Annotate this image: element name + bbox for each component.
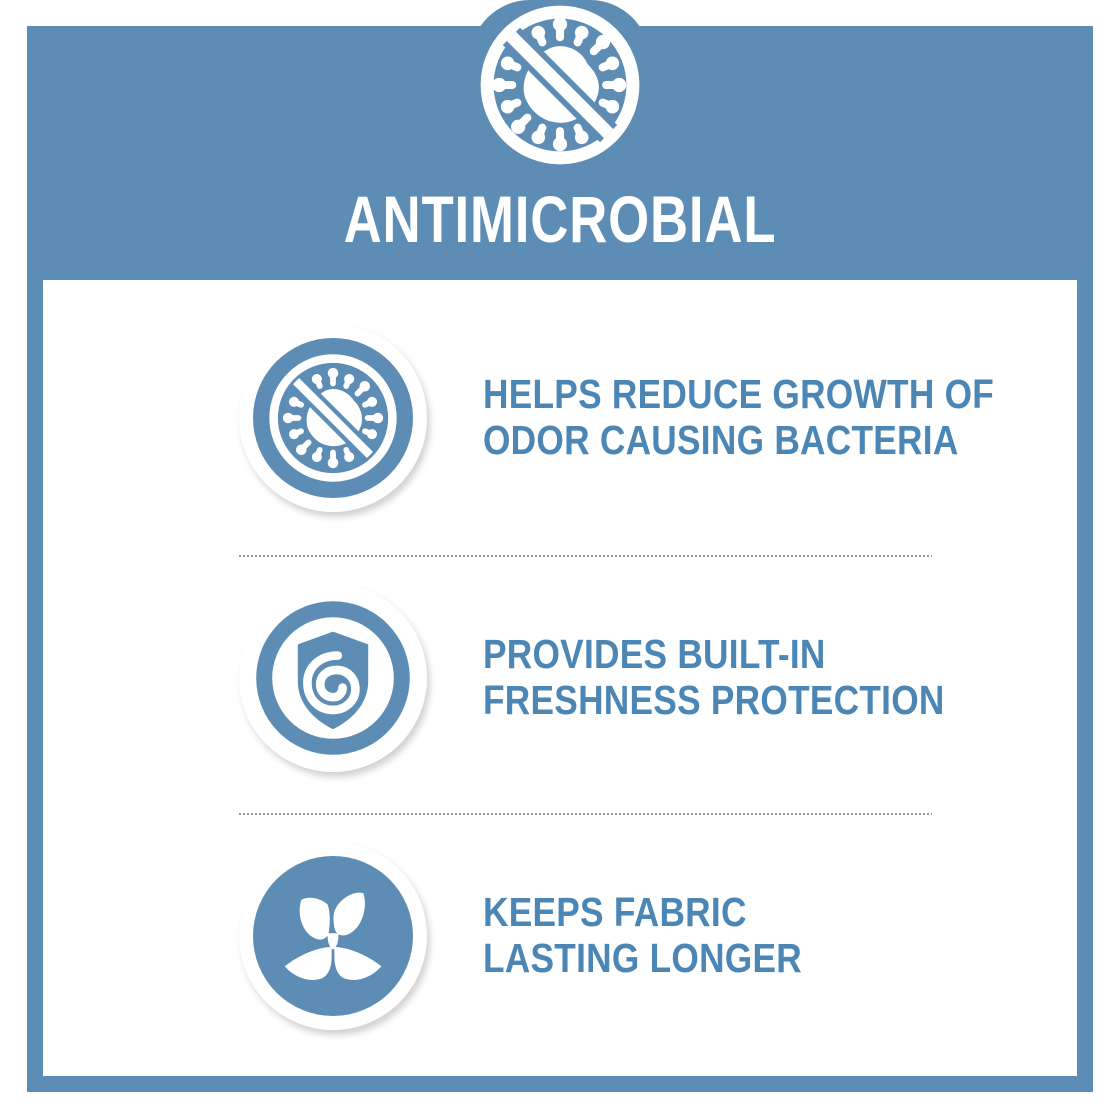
infographic-canvas: ANTIMICROBIAL [0, 0, 1120, 1120]
blue-panel: ANTIMICROBIAL [27, 26, 1093, 1092]
page-title: ANTIMICROBIAL [134, 186, 987, 252]
header-banner: ANTIMICROBIAL [27, 26, 1093, 280]
feature-line-2: ODOR CAUSING BACTERIA [483, 418, 994, 464]
feature-line-2: LASTING LONGER [483, 936, 802, 982]
shield-freshness-icon [239, 584, 427, 772]
feature-row: HELPS REDUCE GROWTH OF ODOR CAUSING BACT… [43, 310, 1077, 526]
feature-line-2: FRESHNESS PROTECTION [483, 678, 945, 724]
feature-text: PROVIDES BUILT-IN FRESHNESS PROTECTION [483, 632, 945, 724]
row-divider [239, 813, 932, 815]
feature-row: PROVIDES BUILT-IN FRESHNESS PROTECTION [43, 570, 1077, 786]
row-divider [239, 555, 932, 557]
feature-line-1: PROVIDES BUILT-IN [483, 632, 945, 678]
no-bacteria-icon [479, 4, 641, 166]
feature-line-1: HELPS REDUCE GROWTH OF [483, 372, 994, 418]
feature-text: KEEPS FABRIC LASTING LONGER [483, 890, 802, 982]
feature-text: HELPS REDUCE GROWTH OF ODOR CAUSING BACT… [483, 372, 994, 464]
feature-row: KEEPS FABRIC LASTING LONGER [43, 828, 1077, 1044]
feature-line-1: KEEPS FABRIC [483, 890, 802, 936]
content-card: HELPS REDUCE GROWTH OF ODOR CAUSING BACT… [43, 280, 1077, 1076]
leaf-sprout-icon [239, 842, 427, 1030]
no-bacteria-icon [239, 324, 427, 512]
